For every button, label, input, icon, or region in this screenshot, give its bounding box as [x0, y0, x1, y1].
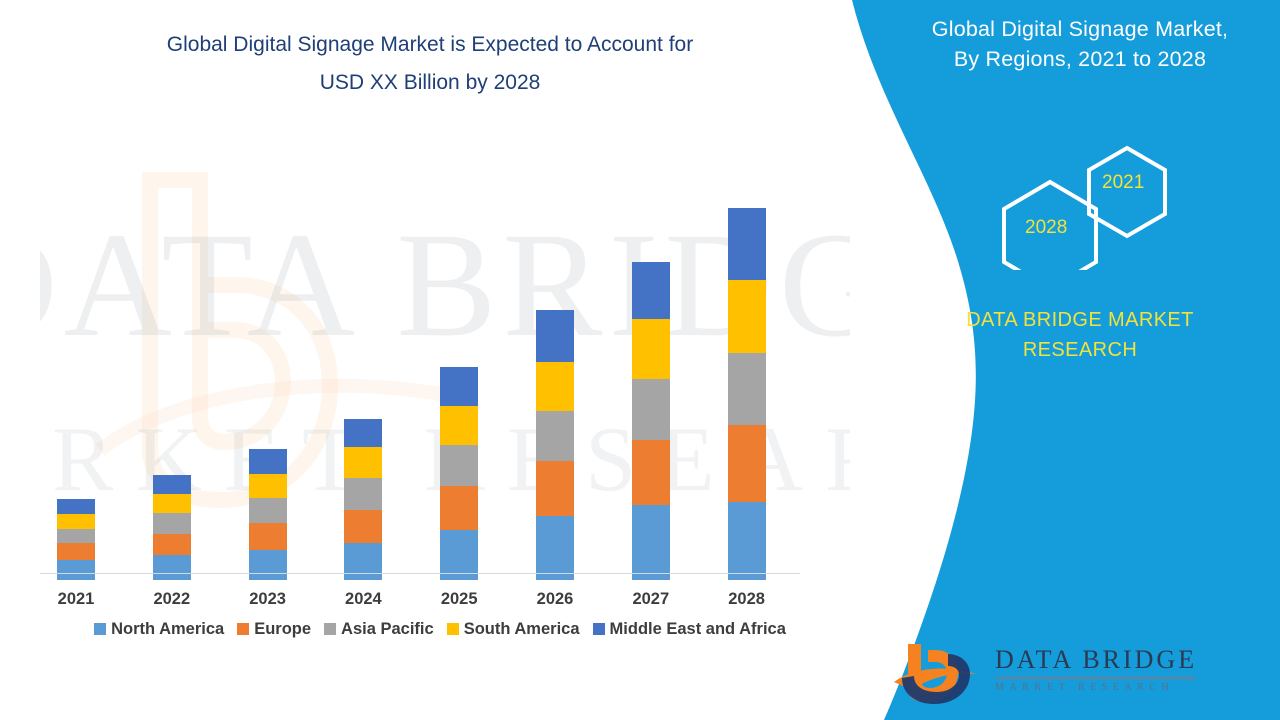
bar-segment-asia-pacific-2024: [344, 478, 382, 510]
legend-item-north-america[interactable]: North America: [94, 620, 224, 639]
x-axis-label-2023: 2023: [228, 590, 308, 609]
legend-label: Europe: [254, 620, 311, 639]
x-axis-label-2022: 2022: [132, 590, 212, 609]
bar-2022: [153, 475, 191, 580]
x-axis-label-2028: 2028: [707, 590, 787, 609]
bar-segment-asia-pacific-2028: [728, 353, 766, 425]
chart-legend: North AmericaEuropeAsia PacificSouth Ame…: [40, 617, 840, 641]
bar-segment-north-america-2028: [728, 502, 766, 580]
bar-segment-europe-2027: [632, 440, 670, 505]
bar-segment-north-america-2027: [632, 505, 670, 580]
bar-segment-europe-2021: [57, 543, 95, 560]
panel-title-line2: By Regions, 2021 to 2028: [880, 44, 1280, 74]
logo-divider: [996, 677, 1196, 679]
bar-segment-asia-pacific-2026: [536, 411, 574, 461]
legend-swatch-icon: [237, 623, 249, 635]
bar-2026: [536, 310, 574, 580]
bar-segment-south-america-2028: [728, 280, 766, 353]
bar-segment-north-america-2023: [249, 550, 287, 580]
bar-segment-asia-pacific-2027: [632, 379, 670, 440]
hexagon-outlines: [880, 140, 1280, 270]
logo-title: DATA BRIDGE: [995, 646, 1197, 674]
legend-swatch-icon: [94, 623, 106, 635]
bar-segment-middle-east-and-africa-2024: [344, 419, 382, 447]
bar-segment-north-america-2021: [57, 560, 95, 580]
bar-segment-middle-east-and-africa-2025: [440, 367, 478, 406]
bar-segment-north-america-2022: [153, 555, 191, 580]
stacked-bar-chart: [0, 150, 850, 580]
bar-segment-middle-east-and-africa-2021: [57, 499, 95, 514]
bar-segment-europe-2024: [344, 510, 382, 543]
bar-segment-south-america-2024: [344, 447, 382, 478]
legend-item-south-america[interactable]: South America: [447, 620, 580, 639]
bar-segment-south-america-2022: [153, 494, 191, 513]
bar-segment-north-america-2026: [536, 516, 574, 580]
bar-segment-europe-2023: [249, 523, 287, 550]
x-axis-label-2026: 2026: [515, 590, 595, 609]
infographic-canvas: Global Digital Signage Market is Expecte…: [0, 0, 1280, 720]
bar-segment-europe-2022: [153, 534, 191, 556]
company-logo: DATA BRIDGE MARKET RESEARCH: [890, 638, 1250, 708]
hexagon-2028-label: 2028: [1025, 217, 1067, 239]
x-axis-label-2025: 2025: [419, 590, 499, 609]
legend-swatch-icon: [447, 623, 459, 635]
bar-segment-asia-pacific-2021: [57, 529, 95, 543]
hexagon-group: 2021 2028: [880, 140, 1280, 270]
brand-name: DATA BRIDGE MARKET RESEARCH: [880, 305, 1280, 365]
bar-segment-asia-pacific-2025: [440, 445, 478, 486]
legend-label: South America: [464, 620, 580, 639]
bar-2024: [344, 419, 382, 580]
bar-segment-europe-2026: [536, 461, 574, 516]
bar-segment-middle-east-and-africa-2027: [632, 262, 670, 319]
legend-label: North America: [111, 620, 224, 639]
bar-segment-south-america-2025: [440, 406, 478, 445]
legend-swatch-icon: [593, 623, 605, 635]
brand-line1: DATA BRIDGE MARKET: [880, 305, 1280, 335]
legend-label: Asia Pacific: [341, 620, 434, 639]
right-panel-content: Global Digital Signage Market, By Region…: [880, 0, 1280, 720]
bar-segment-south-america-2026: [536, 362, 574, 411]
legend-label: Middle East and Africa: [610, 620, 786, 639]
bar-2027: [632, 262, 670, 580]
legend-item-europe[interactable]: Europe: [237, 620, 311, 639]
bar-segment-middle-east-and-africa-2026: [536, 310, 574, 362]
bar-segment-asia-pacific-2023: [249, 498, 287, 523]
x-axis-label-2024: 2024: [323, 590, 403, 609]
logo-mark-icon: [890, 638, 990, 706]
bar-segment-middle-east-and-africa-2023: [249, 449, 287, 474]
bar-segment-middle-east-and-africa-2028: [728, 208, 766, 280]
logo-text-block: DATA BRIDGE MARKET RESEARCH: [995, 646, 1197, 694]
bar-2023: [249, 449, 287, 580]
bar-segment-south-america-2021: [57, 514, 95, 529]
panel-title-line1: Global Digital Signage Market,: [880, 14, 1280, 44]
bar-segment-north-america-2024: [344, 543, 382, 580]
x-axis-label-2027: 2027: [611, 590, 691, 609]
bar-2021: [57, 499, 95, 580]
bar-segment-europe-2028: [728, 425, 766, 502]
legend-swatch-icon: [324, 623, 336, 635]
bar-2028: [728, 208, 766, 580]
bar-segment-middle-east-and-africa-2022: [153, 475, 191, 494]
brand-line2: RESEARCH: [880, 335, 1280, 365]
page-title-line1: Global Digital Signage Market is Expecte…: [60, 26, 800, 64]
legend-item-middle-east-and-africa[interactable]: Middle East and Africa: [593, 620, 786, 639]
bar-segment-asia-pacific-2022: [153, 513, 191, 533]
bar-segment-south-america-2027: [632, 319, 670, 379]
page-title: Global Digital Signage Market is Expecte…: [60, 26, 800, 102]
page-title-line2: USD XX Billion by 2028: [60, 64, 800, 102]
x-axis-line: [40, 573, 800, 574]
bar-segment-europe-2025: [440, 486, 478, 530]
bar-2025: [440, 367, 478, 580]
legend-item-asia-pacific[interactable]: Asia Pacific: [324, 620, 434, 639]
x-axis-label-2021: 2021: [36, 590, 116, 609]
logo-subtitle: MARKET RESEARCH: [995, 682, 1197, 694]
panel-title: Global Digital Signage Market, By Region…: [880, 14, 1280, 74]
hexagon-2021-label: 2021: [1102, 172, 1144, 194]
bar-segment-south-america-2023: [249, 474, 287, 498]
